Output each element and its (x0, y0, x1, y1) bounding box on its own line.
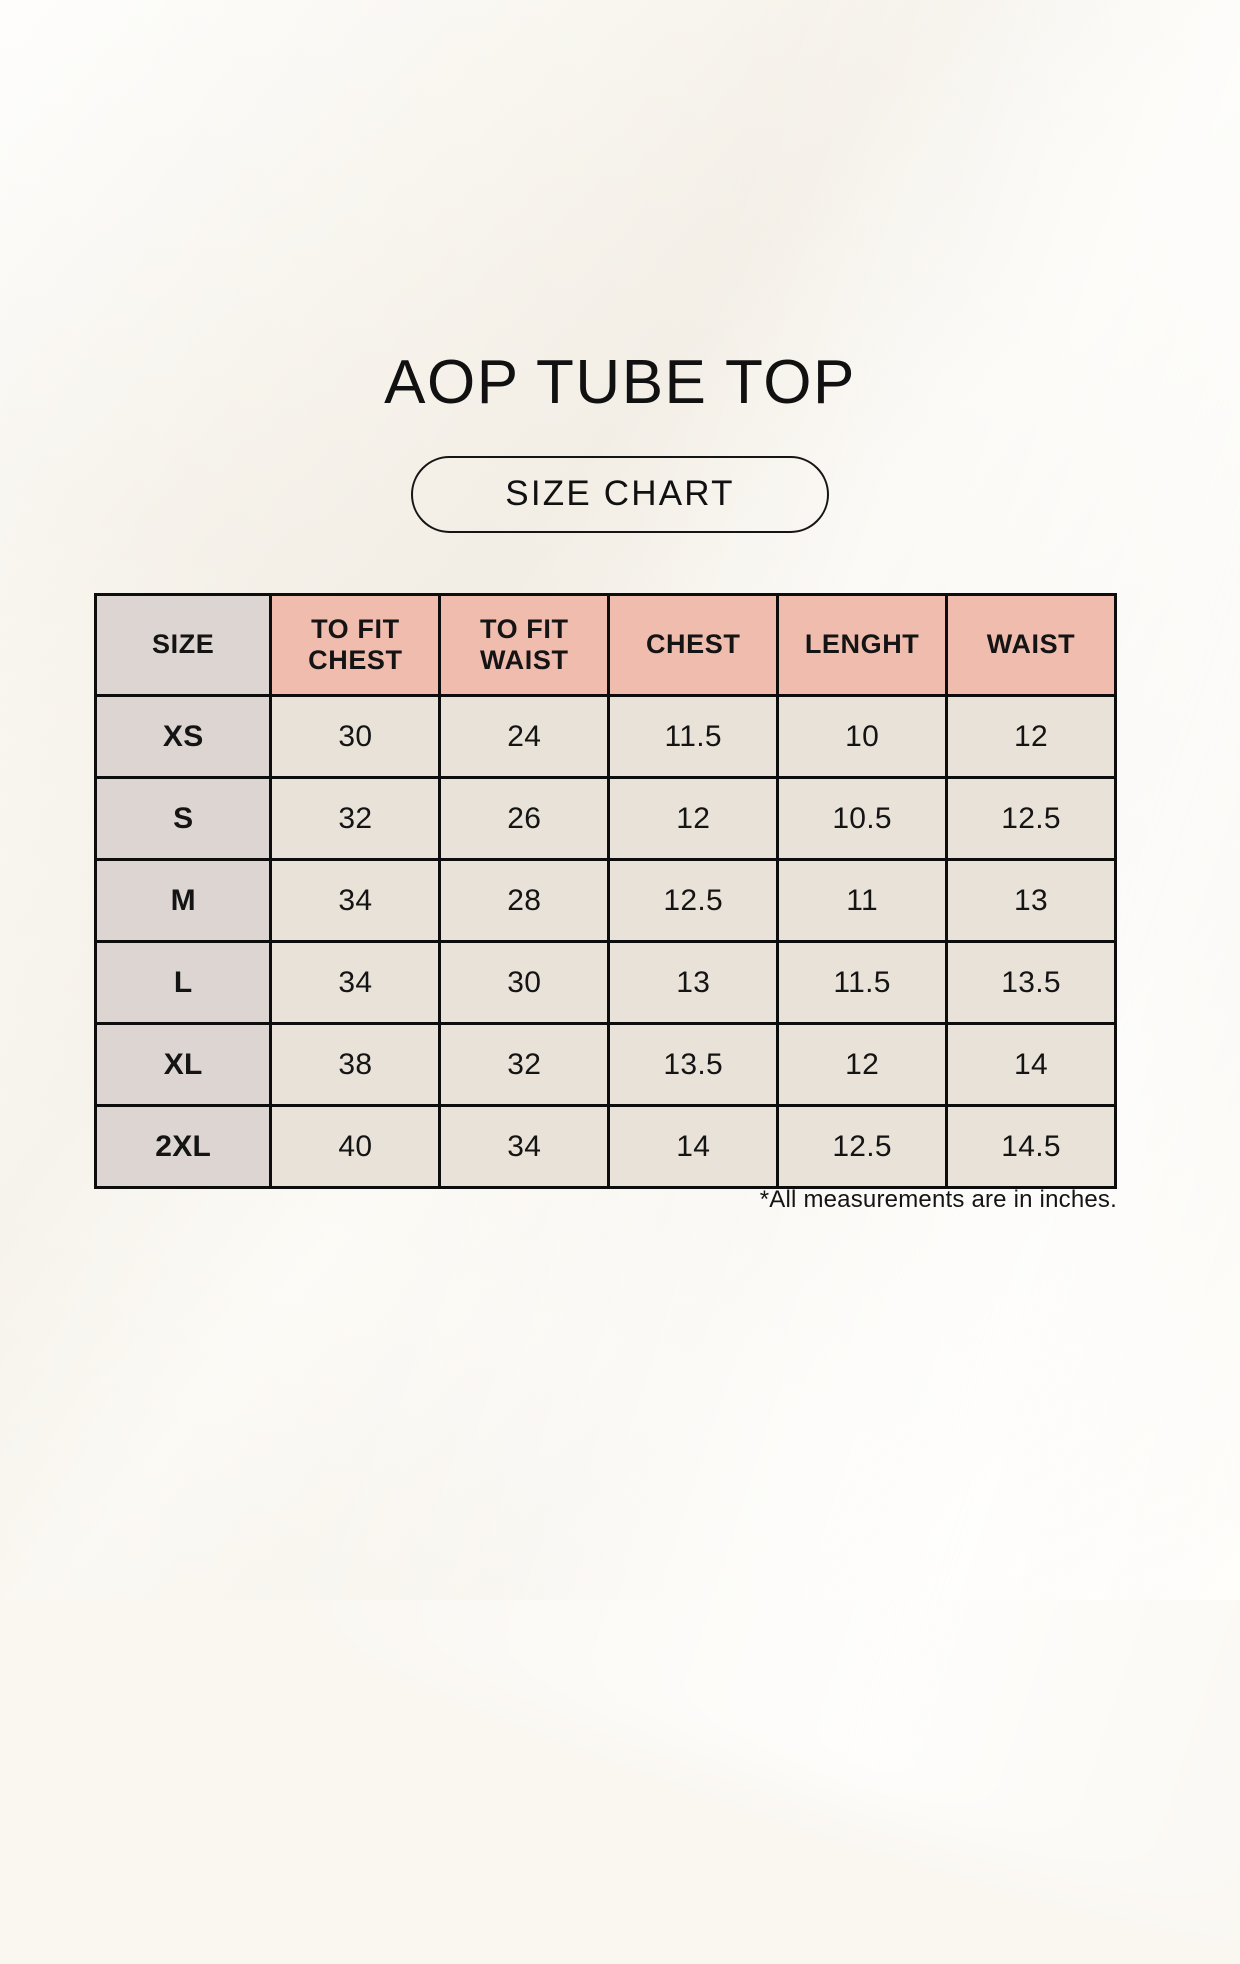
column-header-waist: WAIST (947, 595, 1116, 696)
cell-chest: 12 (609, 778, 778, 860)
column-header-to-fit-chest-line1: TO FIT (311, 614, 400, 644)
cell-to-fit-chest: 30 (271, 696, 440, 778)
cell-size: XS (96, 696, 271, 778)
column-header-to-fit-waist: TO FIT WAIST (440, 595, 609, 696)
cell-chest: 14 (609, 1106, 778, 1188)
size-chart-badge: SIZE CHART (411, 456, 828, 533)
cell-size: S (96, 778, 271, 860)
cell-to-fit-waist: 28 (440, 860, 609, 942)
cell-chest: 13 (609, 942, 778, 1024)
cell-lenght: 12 (778, 1024, 947, 1106)
header-block: AOP TUBE TOP SIZE CHART (0, 352, 1240, 533)
table-row: M 34 28 12.5 11 13 (96, 860, 1116, 942)
table-row: S 32 26 12 10.5 12.5 (96, 778, 1116, 860)
cell-chest: 11.5 (609, 696, 778, 778)
table-row: XL 38 32 13.5 12 14 (96, 1024, 1116, 1106)
table-row: XS 30 24 11.5 10 12 (96, 696, 1116, 778)
table-header-row: SIZE TO FIT CHEST TO FIT WAIST CHEST LEN… (96, 595, 1116, 696)
cell-size: L (96, 942, 271, 1024)
cell-chest: 13.5 (609, 1024, 778, 1106)
column-header-size: SIZE (96, 595, 271, 696)
cell-waist: 13 (947, 860, 1116, 942)
cell-to-fit-waist: 30 (440, 942, 609, 1024)
column-header-to-fit-chest: TO FIT CHEST (271, 595, 440, 696)
cell-to-fit-waist: 26 (440, 778, 609, 860)
table-header: SIZE TO FIT CHEST TO FIT WAIST CHEST LEN… (96, 595, 1116, 696)
badge-row: SIZE CHART (0, 456, 1240, 533)
cell-waist: 14 (947, 1024, 1116, 1106)
cell-lenght: 10 (778, 696, 947, 778)
cell-to-fit-waist: 24 (440, 696, 609, 778)
column-header-to-fit-waist-line1: TO FIT (480, 614, 569, 644)
cell-to-fit-chest: 38 (271, 1024, 440, 1106)
column-header-lenght: LENGHT (778, 595, 947, 696)
cell-size: 2XL (96, 1106, 271, 1188)
cell-lenght: 10.5 (778, 778, 947, 860)
cell-to-fit-chest: 34 (271, 860, 440, 942)
measurements-footnote: *All measurements are in inches. (0, 1186, 1117, 1214)
table-row: L 34 30 13 11.5 13.5 (96, 942, 1116, 1024)
cell-waist: 12 (947, 696, 1116, 778)
cell-to-fit-chest: 34 (271, 942, 440, 1024)
cell-size: M (96, 860, 271, 942)
cell-to-fit-chest: 32 (271, 778, 440, 860)
cell-lenght: 11.5 (778, 942, 947, 1024)
table-row: 2XL 40 34 14 12.5 14.5 (96, 1106, 1116, 1188)
size-chart-page: AOP TUBE TOP SIZE CHART SIZE TO FIT CHES… (0, 0, 1240, 1600)
cell-to-fit-waist: 34 (440, 1106, 609, 1188)
cell-waist: 14.5 (947, 1106, 1116, 1188)
cell-to-fit-waist: 32 (440, 1024, 609, 1106)
cell-to-fit-chest: 40 (271, 1106, 440, 1188)
cell-size: XL (96, 1024, 271, 1106)
column-header-to-fit-chest-line2: CHEST (308, 645, 403, 675)
table-body: XS 30 24 11.5 10 12 S 32 26 12 10.5 12.5… (96, 696, 1116, 1188)
column-header-to-fit-waist-line2: WAIST (480, 645, 569, 675)
cell-lenght: 11 (778, 860, 947, 942)
size-chart-table: SIZE TO FIT CHEST TO FIT WAIST CHEST LEN… (94, 593, 1117, 1189)
cell-waist: 13.5 (947, 942, 1116, 1024)
cell-chest: 12.5 (609, 860, 778, 942)
page-title: AOP TUBE TOP (0, 352, 1240, 414)
size-chart-table-wrap: SIZE TO FIT CHEST TO FIT WAIST CHEST LEN… (94, 593, 1117, 1189)
column-header-chest: CHEST (609, 595, 778, 696)
cell-waist: 12.5 (947, 778, 1116, 860)
cell-lenght: 12.5 (778, 1106, 947, 1188)
